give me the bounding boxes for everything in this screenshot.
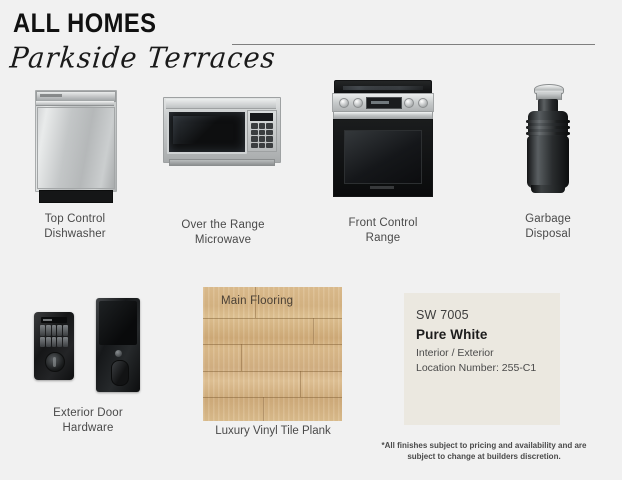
smart-lock-touchscreen (99, 301, 137, 345)
range-knob (404, 98, 414, 108)
disposal-ring (526, 126, 570, 129)
garbage-disposal-icon (513, 82, 583, 200)
door-hardware-icon (18, 290, 158, 400)
community-name: Parkside Terraces (8, 41, 277, 77)
dishwasher-handle (36, 101, 114, 106)
microwave-vent (166, 99, 276, 109)
finish-card-door-hardware: Exterior Door Hardware (16, 290, 160, 436)
disposal-body (527, 136, 569, 188)
paint-location-number: Location Number: 255-C1 (416, 362, 536, 374)
dishwasher-icon (32, 84, 118, 202)
paint-swatch: SW 7005 Pure White Interior / Exterior L… (404, 293, 560, 425)
range-control-panel (332, 93, 434, 112)
plank-line (203, 318, 342, 319)
range-oven-door (333, 119, 433, 197)
appliance-label-disposal: Garbage Disposal (483, 212, 613, 242)
range-brand-badge (370, 186, 394, 189)
flooring-texture (203, 287, 342, 421)
appliance-label-range: Front Control Range (315, 216, 451, 246)
finish-selection-board: ALL HOMES Parkside Terraces Top Control … (0, 0, 622, 480)
range-knob (353, 98, 363, 108)
appliance-label-microwave: Over the Range Microwave (153, 218, 293, 248)
plank-seam (263, 397, 264, 421)
keypad-buttons (40, 325, 68, 347)
microwave-door (167, 110, 247, 154)
plank-seam (241, 344, 242, 371)
plank-seam (313, 318, 314, 344)
header-divider (232, 44, 595, 45)
range-oven-window (344, 130, 422, 184)
microwave-icon (163, 95, 283, 170)
deadbolt-cylinder (45, 352, 65, 372)
microwave-bottom-trim (169, 159, 275, 166)
dishwasher-kick-plate (39, 190, 113, 203)
microwave-control-panel (247, 110, 277, 152)
smart-lock-icon (96, 298, 140, 392)
appliance-label-dishwasher: Top Control Dishwasher (6, 212, 144, 242)
flooring-swatch: Main Flooring (203, 287, 342, 421)
paint-name: Pure White (416, 327, 488, 342)
appliance-card-disposal: Garbage Disposal (483, 82, 613, 242)
keypad-deadbolt-icon (34, 312, 74, 380)
finish-label-flooring: Luxury Vinyl Tile Plank (183, 424, 363, 439)
plank-line (203, 371, 342, 372)
plank-seam (300, 371, 301, 397)
appliance-card-microwave: Over the Range Microwave (153, 95, 293, 248)
finish-label-door-hardware: Exterior Door Hardware (16, 406, 160, 436)
range-knob (339, 98, 349, 108)
keypad-display (41, 317, 67, 323)
paint-code: SW 7005 (416, 308, 469, 322)
appliance-card-range: Front Control Range (315, 80, 451, 246)
plank-line (203, 397, 342, 398)
disclaimer-text: *All finishes subject to pricing and ava… (376, 440, 592, 462)
appliance-card-dishwasher: Top Control Dishwasher (6, 84, 144, 242)
smart-lock-indicator (115, 350, 122, 357)
microwave-display (250, 113, 273, 121)
range-display (366, 97, 402, 109)
dishwasher-door (37, 107, 115, 189)
disposal-base (531, 185, 565, 193)
plank-line (203, 344, 342, 345)
range-icon (332, 80, 434, 202)
range-knob (418, 98, 428, 108)
smart-lock-thumbturn (111, 360, 129, 386)
paint-usage: Interior / Exterior (416, 347, 494, 359)
page-title: ALL HOMES (13, 8, 156, 38)
disposal-ring (526, 120, 570, 123)
disposal-ring (526, 132, 570, 135)
microwave-keypad (251, 123, 273, 148)
header: ALL HOMES Parkside Terraces (0, 0, 622, 86)
flooring-overlay-label: Main Flooring (221, 295, 293, 307)
